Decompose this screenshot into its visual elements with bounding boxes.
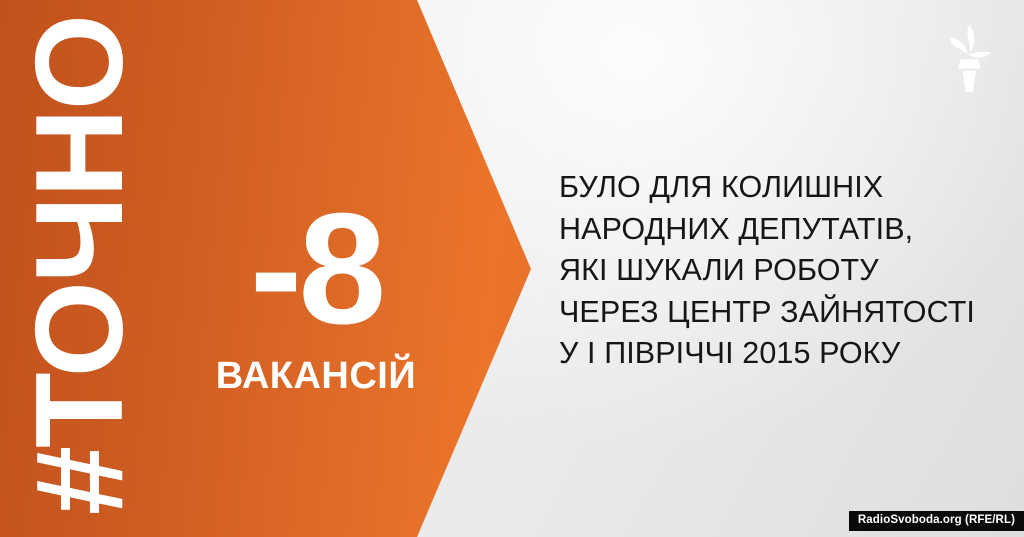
stat-label: ВАКАНСІЙ	[186, 355, 446, 398]
hashtag-vertical-label: #ТОЧНО	[0, 0, 160, 537]
orange-arrow-panel: #ТОЧНО -8 ВАКАНСІЙ	[0, 0, 532, 537]
caption-line-3: ЯКІ ШУКАЛИ РОБОТУ	[559, 250, 1011, 292]
caption-line-4: ЧЕРЕЗ ЦЕНТР ЗАЙНЯТОСТІ	[559, 292, 1011, 334]
infographic-canvas: #ТОЧНО -8 ВАКАНСІЙ БУЛО ДЛЯ КОЛИШНІХ НАР…	[0, 0, 1024, 537]
rfe-torch-logo-icon	[936, 22, 1000, 92]
stat-value: -8	[186, 196, 446, 343]
watermark-badge: RadioSvoboda.org (RFE/RL)	[849, 511, 1024, 532]
caption-line-1: БУЛО ДЛЯ КОЛИШНІХ	[559, 167, 1011, 209]
caption-line-2: НАРОДНИХ ДЕПУТАТІВ,	[559, 209, 1011, 251]
caption-line-5: У І ПІВРІЧЧІ 2015 РОКУ	[559, 333, 1011, 375]
stat-block: -8 ВАКАНСІЙ	[186, 196, 446, 398]
caption-text-block: БУЛО ДЛЯ КОЛИШНІХ НАРОДНИХ ДЕПУТАТІВ, ЯК…	[559, 167, 1011, 375]
